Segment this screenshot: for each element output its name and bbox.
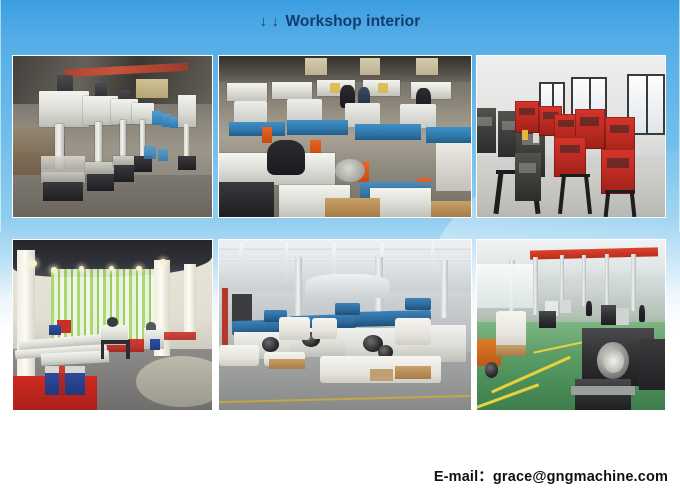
photo-drill-presses[interactable] [12, 55, 213, 218]
photo-showroom[interactable] [12, 239, 213, 411]
contact-email[interactable]: E-mail：grace@gngmachine.com [434, 465, 668, 486]
photo-assembly-hall[interactable] [476, 239, 666, 411]
page-footer: E-mail：grace@gngmachine.com [0, 462, 668, 489]
page-title: ↓ ↓ Workshop interior [260, 13, 421, 31]
photo-red-cabinets[interactable] [476, 55, 666, 218]
photo-metal-lathes[interactable] [218, 55, 472, 218]
workshop-gallery-page: ↓ ↓ Workshop interior [0, 0, 680, 489]
header-title-text: Workshop interior [285, 13, 420, 30]
photo-grid [12, 55, 668, 411]
down-arrow-icon: ↓ ↓ [260, 13, 279, 30]
page-header: ↓ ↓ Workshop interior [0, 0, 680, 44]
photo-wrapped-grinders[interactable] [218, 239, 472, 411]
